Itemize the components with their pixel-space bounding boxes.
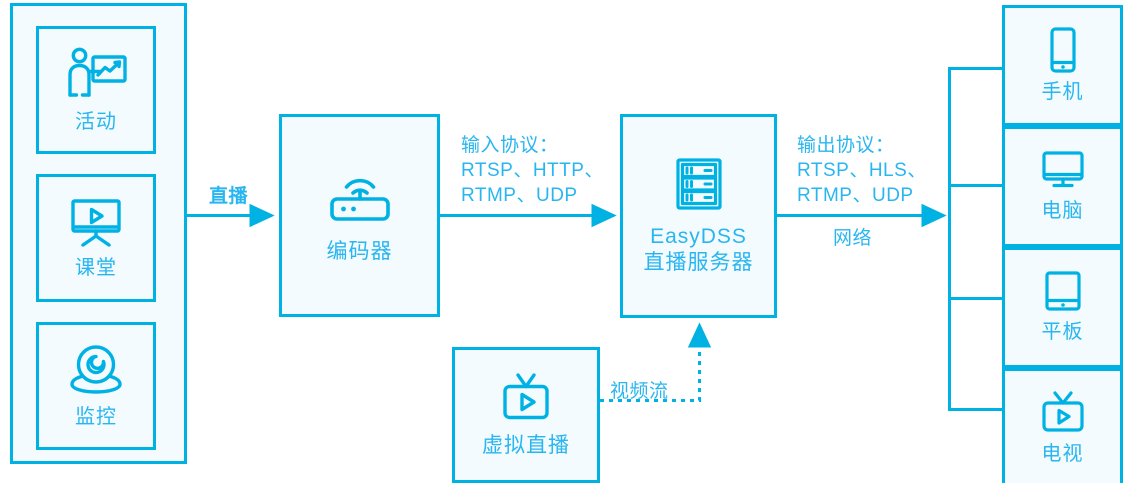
device-label: 电视 [1042,442,1084,467]
device-label: 平板 [1042,320,1084,345]
device-label: 电脑 [1042,199,1084,224]
tv-play-icon [1037,390,1089,436]
edge-label-network: 网络 [833,226,872,251]
device-computer[interactable]: 电脑 [1002,126,1123,247]
wire-network-fanout [948,68,1003,410]
device-label: 手机 [1042,80,1084,105]
device-phone[interactable]: 手机 [1002,5,1123,126]
edge-label-video-stream: 视频流 [610,379,669,404]
dome-camera-icon [67,343,125,397]
presenter-chart-icon [63,46,129,102]
easydss-server-node[interactable]: EasyDSS 直播服务器 [620,114,777,318]
edge-label-output-protocol: 输出协议： RTSP、HLS、 RTMP、UDP [797,133,927,208]
source-item-label: 活动 [75,110,117,135]
tv-play-icon [497,371,555,423]
source-item-surveillance[interactable]: 监控 [36,322,156,450]
device-tv[interactable]: 电视 [1002,368,1123,483]
edge-label-live: 直播 [209,184,248,209]
encoder-node[interactable]: 编码器 [279,114,440,317]
server-rack-icon [672,156,726,212]
encoder-label: 编码器 [327,239,393,265]
source-item-label: 监控 [75,405,117,430]
edge-label-input-protocol: 输入协议： RTSP、HTTP、 RTMP、UDP [461,133,604,208]
source-item-activity[interactable]: 活动 [36,26,156,154]
source-item-classroom[interactable]: 课堂 [36,174,156,302]
architecture-diagram: 活动 课堂 [0,0,1127,483]
tablet-icon [1042,270,1084,314]
source-item-label: 课堂 [75,256,117,281]
virtual-live-node[interactable]: 虚拟直播 [452,347,600,483]
smartphone-icon [1046,26,1080,74]
easydss-server-label: EasyDSS 直播服务器 [644,224,754,277]
projector-screen-play-icon [65,196,127,248]
desktop-monitor-icon [1039,149,1087,193]
virtual-live-label: 虚拟直播 [482,433,570,459]
wifi-router-icon [324,165,396,225]
device-tablet[interactable]: 平板 [1002,247,1123,368]
